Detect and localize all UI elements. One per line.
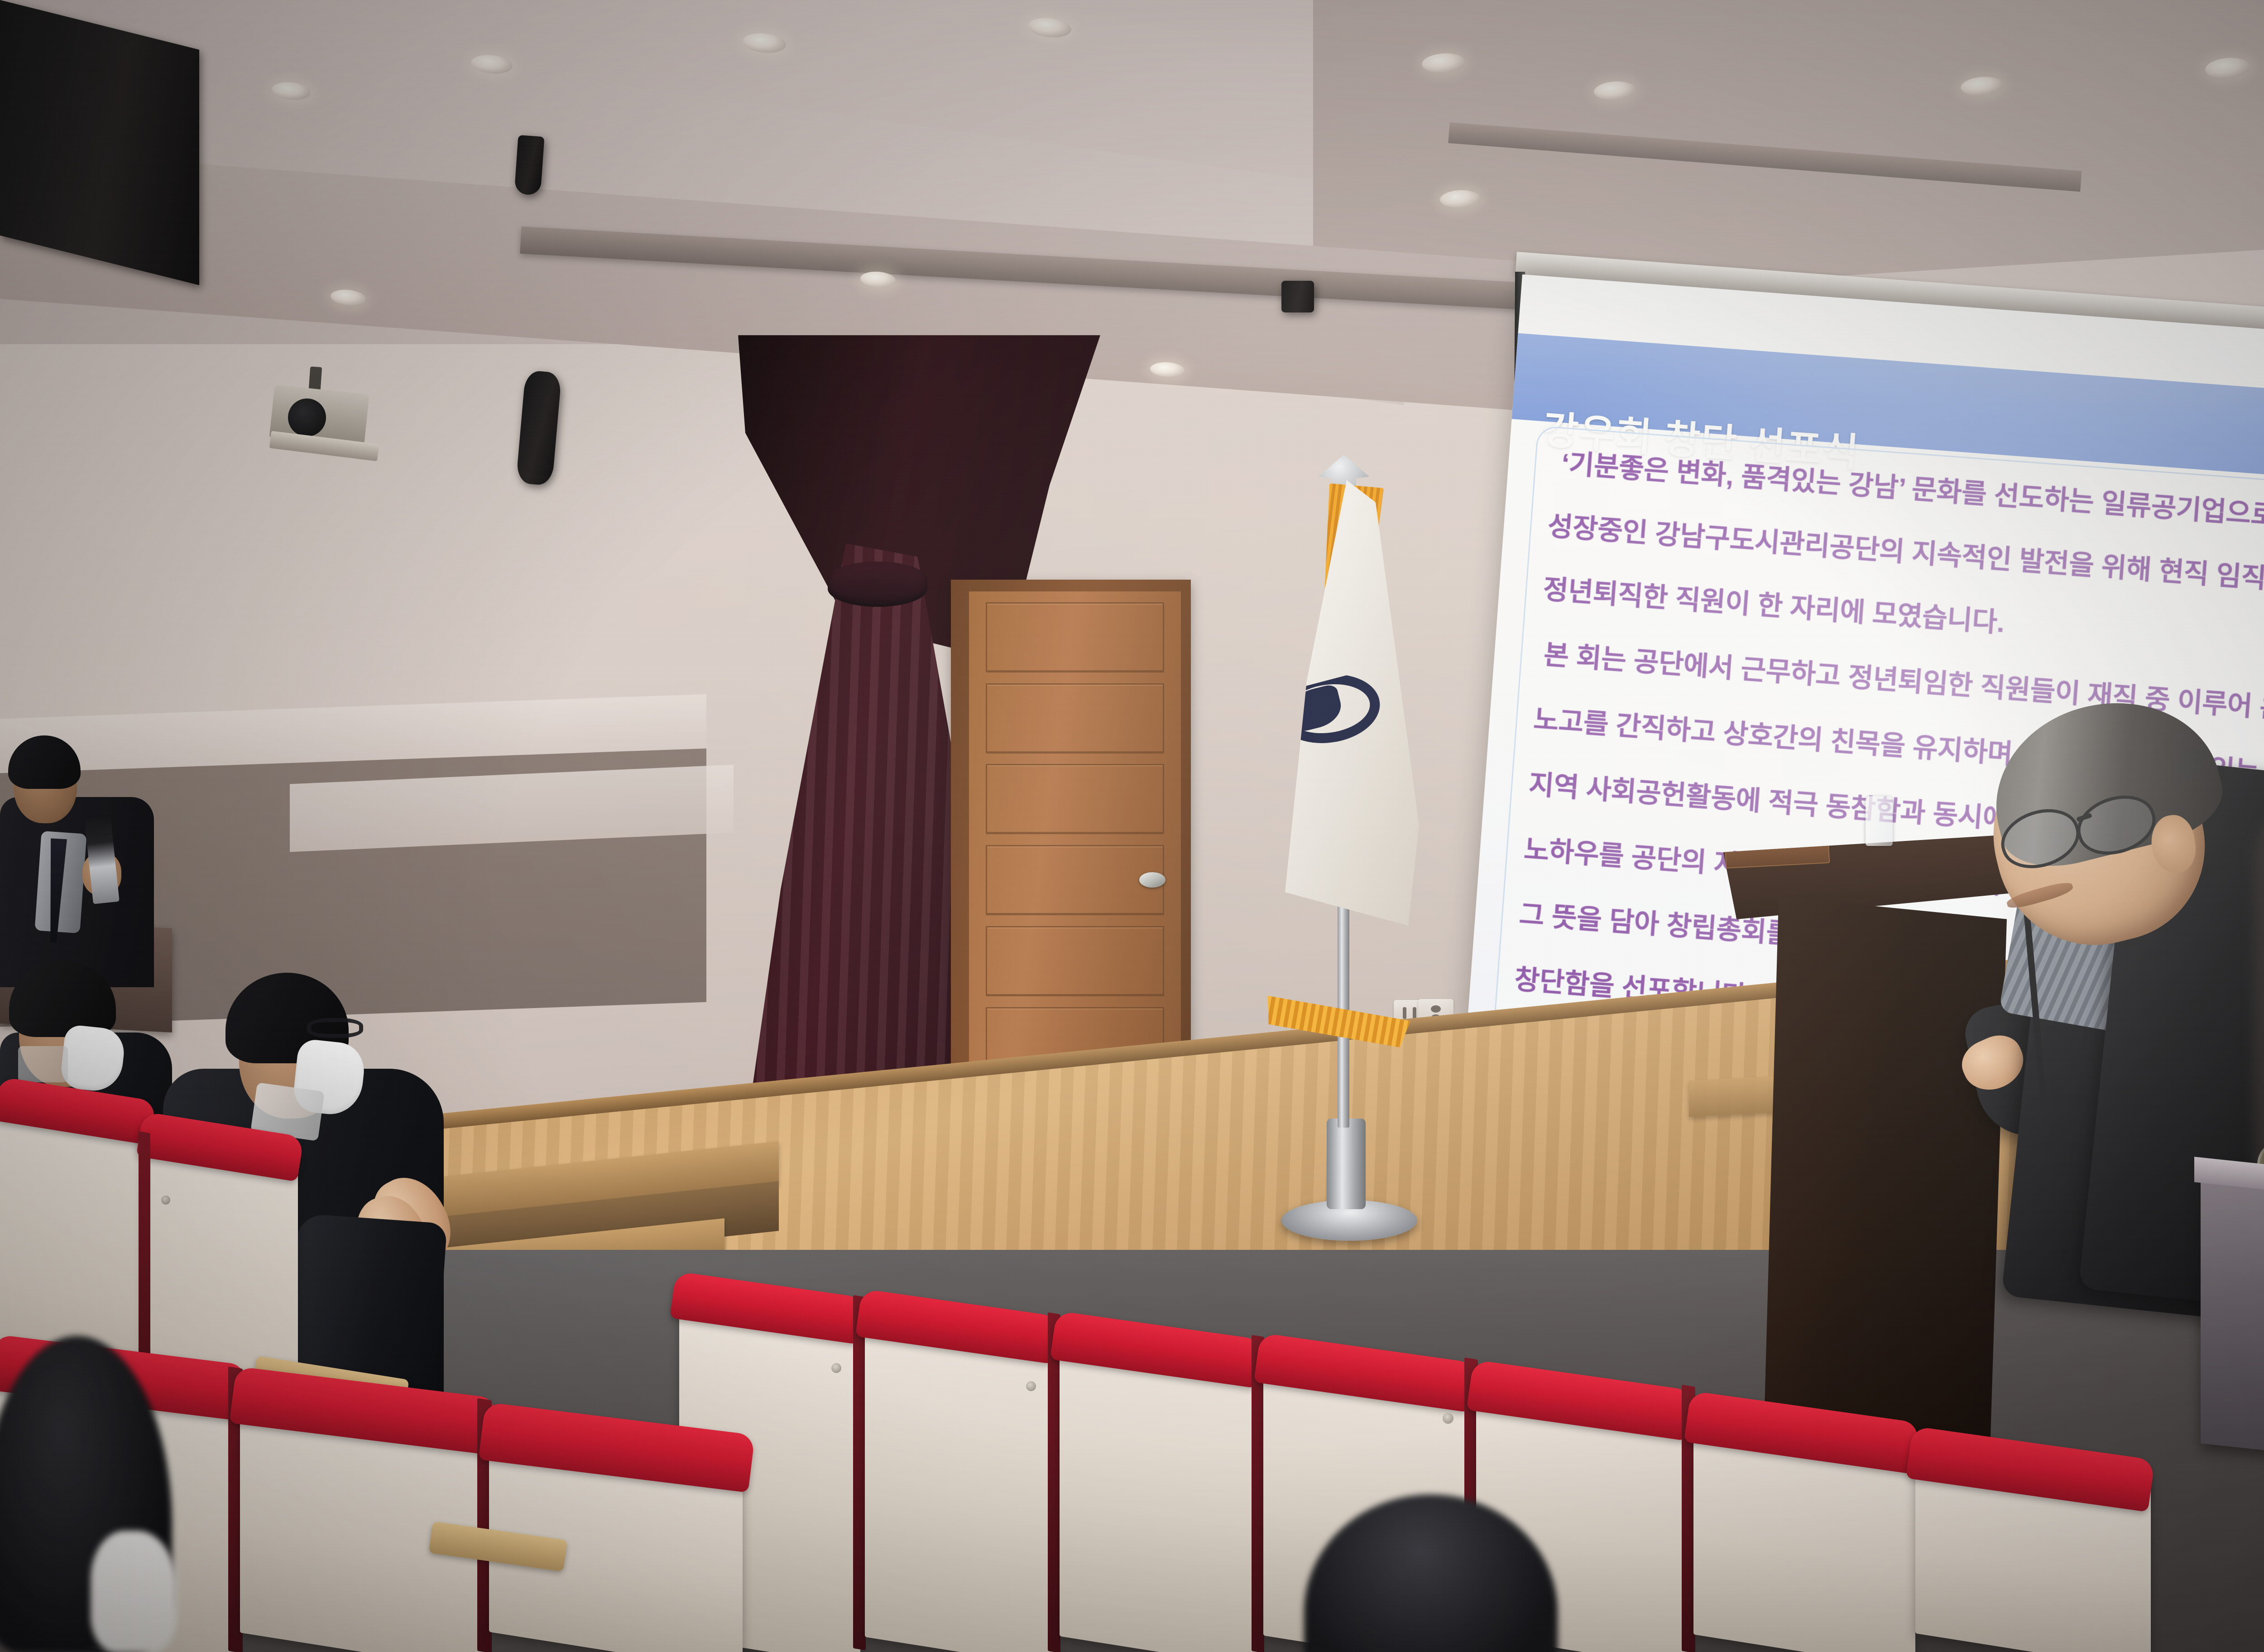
audience-member-2-glasses-icon bbox=[307, 1018, 363, 1038]
door-panel bbox=[986, 845, 1164, 915]
seat-screw bbox=[161, 1196, 170, 1205]
auditorium-ceremony-scene: 강우회 창단 선포식 ‘기분좋은 변화, 품격있는 강남’ 문화를 선도하는 일… bbox=[0, 0, 2264, 1652]
seat-divider bbox=[853, 1295, 866, 1650]
door-panel bbox=[986, 602, 1164, 672]
foreground-attendee-face-mask bbox=[91, 1531, 177, 1652]
seat-divider bbox=[1048, 1312, 1060, 1652]
audience-member-1-collar bbox=[18, 1046, 68, 1082]
hanging-speaker bbox=[514, 135, 545, 196]
water-bottle bbox=[1866, 796, 1893, 846]
door-panel bbox=[986, 683, 1164, 754]
curtain-tieback bbox=[828, 562, 927, 607]
ceiling-speaker-box bbox=[0, 0, 199, 285]
wall-speaker bbox=[1281, 281, 1314, 312]
camera-lens-icon bbox=[288, 399, 326, 437]
door-panel bbox=[986, 764, 1164, 834]
seat-screw bbox=[1026, 1381, 1036, 1391]
control-desk bbox=[2201, 1162, 2264, 1473]
door-handle-icon[interactable] bbox=[1139, 872, 1166, 888]
podium-body[interactable] bbox=[1764, 897, 2007, 1458]
seat-screw bbox=[1443, 1413, 1453, 1424]
flag-stand-column bbox=[1327, 1119, 1366, 1209]
door-panel bbox=[986, 926, 1164, 996]
seat-screw bbox=[831, 1363, 841, 1373]
slide-line: 정년퇴직한 직원이 한 자리에 모였습니다. bbox=[1542, 567, 2006, 640]
